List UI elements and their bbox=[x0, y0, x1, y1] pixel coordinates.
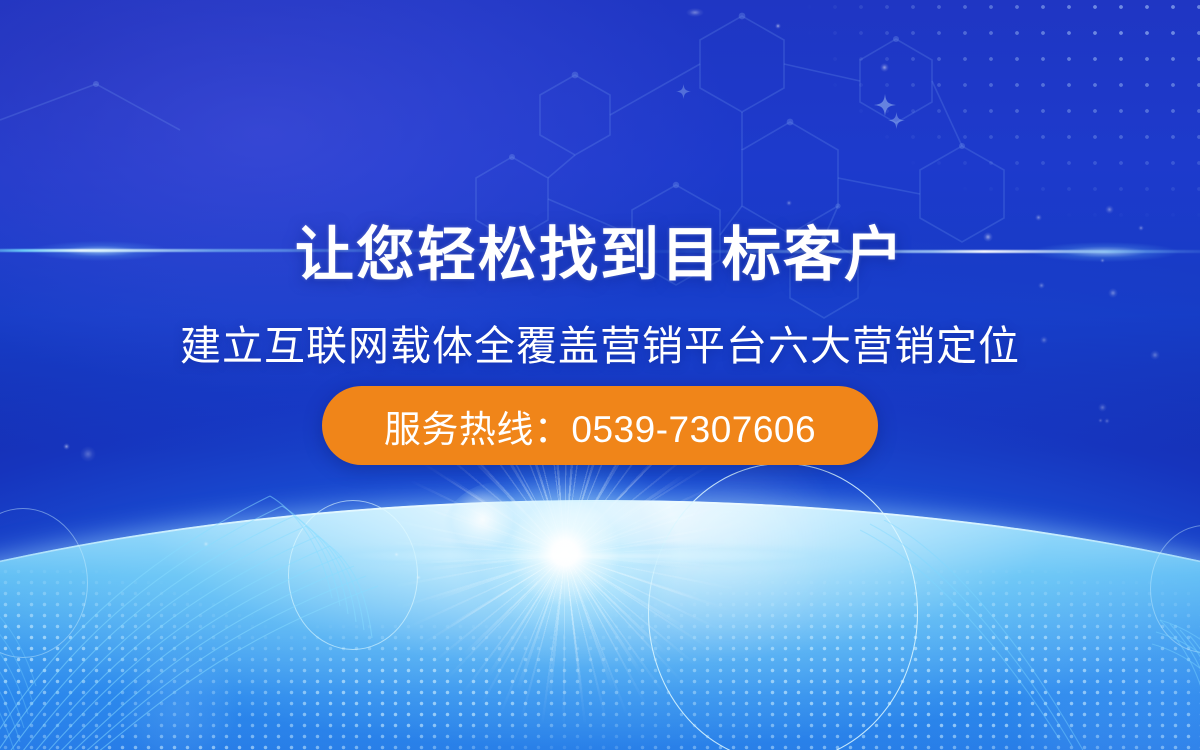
banner-content: 让您轻松找到目标客户 建立互联网载体全覆盖营销平台六大营销定位 服务热线：053… bbox=[0, 0, 1200, 750]
service-hotline-button[interactable]: 服务热线：0539-7307606 bbox=[322, 386, 878, 465]
cta-container: 服务热线：0539-7307606 bbox=[0, 386, 1200, 465]
banner-subtitle: 建立互联网载体全覆盖营销平台六大营销定位 bbox=[0, 326, 1200, 367]
page-title: 让您轻松找到目标客户 bbox=[0, 226, 1200, 285]
promotional-banner: 让您轻松找到目标客户 建立互联网载体全覆盖营销平台六大营销定位 服务热线：053… bbox=[0, 0, 1200, 750]
